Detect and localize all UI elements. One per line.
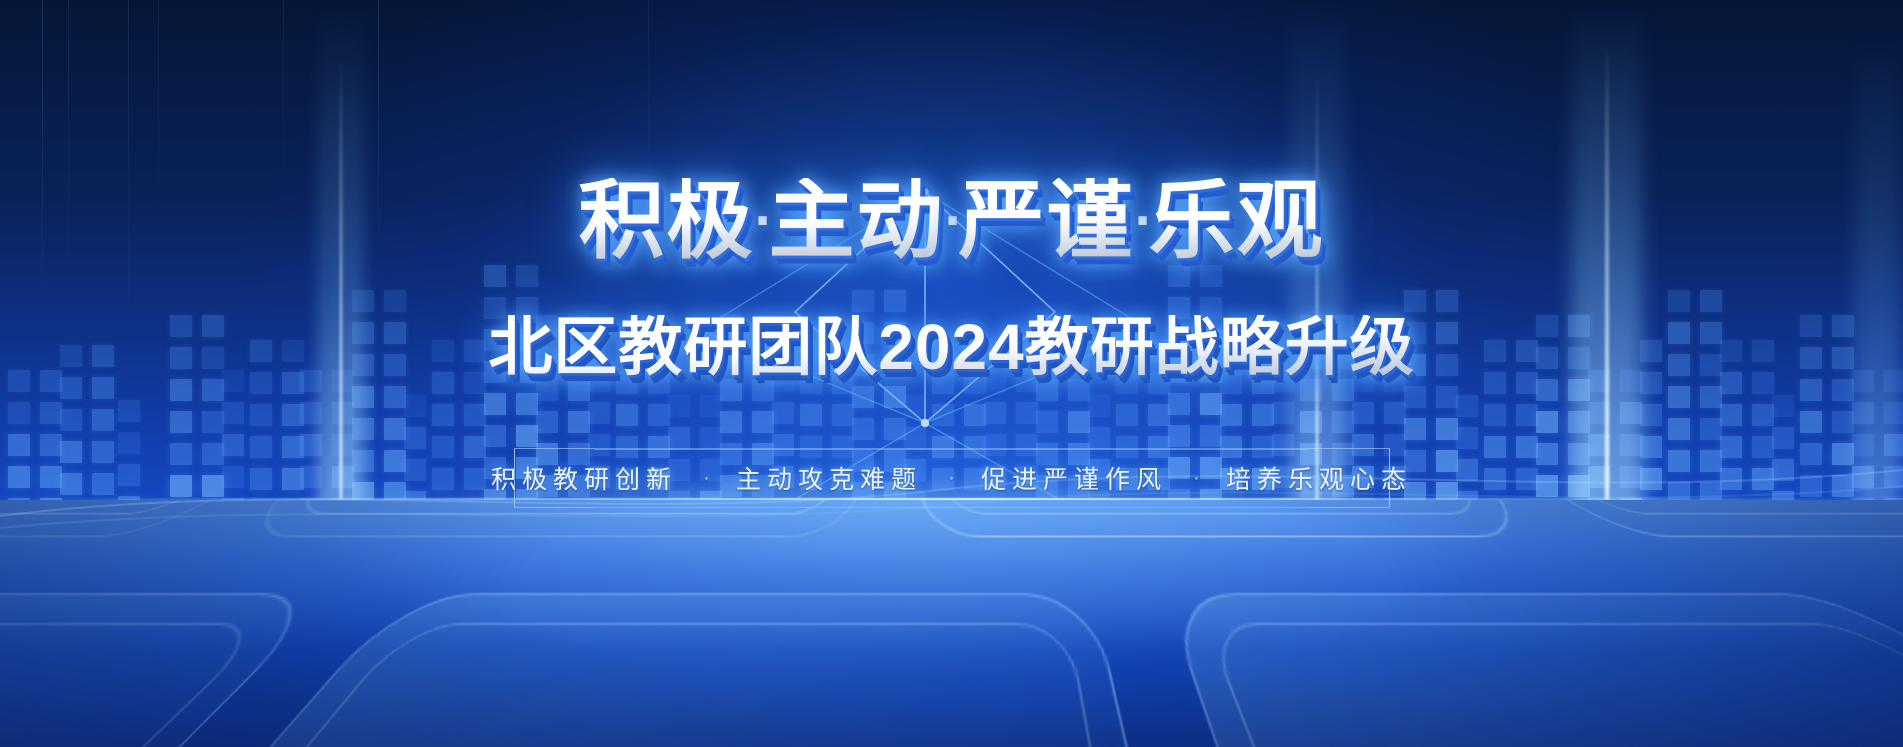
headline-segment-4: 乐观 [1149,178,1325,264]
headline-separator-3: · [1135,192,1149,250]
text-content: 积极·主动·严谨·乐观 北区教研团队2024教研战略升级 积极教研创新 · 主动… [0,0,1903,747]
subheadline: 北区教研团队2024教研战略升级 [0,315,1903,379]
headline-segment-2: 主动 [769,178,945,264]
tagline-item-1: 积极教研创新 [491,460,677,496]
tagline-item-2: 主动攻克难题 [736,460,922,496]
banner-canvas: 积极·主动·严谨·乐观 北区教研团队2024教研战略升级 积极教研创新 · 主动… [0,0,1903,747]
tagline: 积极教研创新 · 主动攻克难题 · 促进严谨作风 · 培养乐观心态 [514,448,1390,508]
tagline-item-3: 促进严谨作风 [981,460,1167,496]
headline-separator-2: · [945,192,959,250]
tagline-separator-1: · [703,466,710,490]
headline-segment-1: 积极 [579,178,755,264]
tagline-item-4: 培养乐观心态 [1226,460,1412,496]
subheadline-text: 北区教研团队2024教研战略升级 [488,315,1414,379]
tagline-separator-3: · [1193,466,1200,490]
headline-separator-1: · [755,192,769,250]
headline: 积极·主动·严谨·乐观 [0,178,1903,264]
tagline-frame: 积极教研创新 · 主动攻克难题 · 促进严谨作风 · 培养乐观心态 [514,448,1390,508]
headline-segment-3: 严谨 [959,178,1135,264]
tagline-separator-2: · [948,466,955,490]
